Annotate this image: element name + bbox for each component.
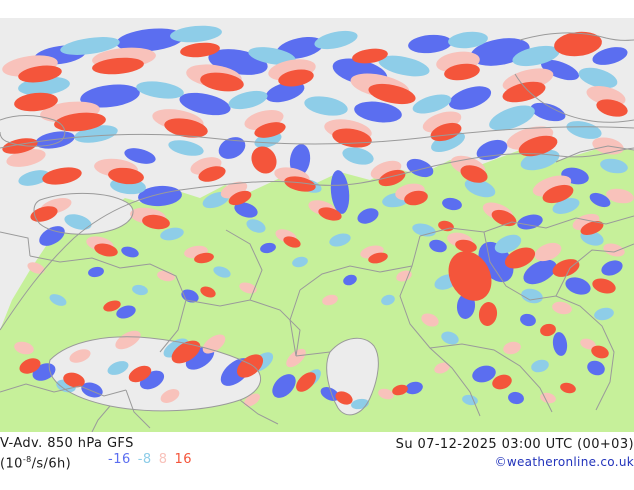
units-suffix: /s/6h): [32, 456, 72, 471]
product-title: V-Adv. 850 hPa GFS: [0, 436, 134, 452]
weather-map-page: V-Adv. 850 hPa GFS (10-8/s/6h) -16-8816 …: [0, 0, 634, 490]
units-exponent: -8: [23, 455, 32, 464]
product-title-row: V-Adv. 850 hPa GFS: [0, 436, 134, 452]
map-top-margin: [0, 0, 634, 18]
map-canvas[interactable]: [0, 0, 634, 433]
legend-value-pos16: 16: [174, 452, 192, 467]
product-units: (10-8/s/6h): [0, 452, 71, 472]
legend-value-pos8: 8: [159, 452, 168, 467]
units-prefix: (10: [0, 456, 23, 471]
forecast-timestamp: Su 07-12-2025 03:00 UTC (00+03): [396, 436, 634, 453]
legend-value-neg16: -16: [108, 452, 131, 467]
legend-value-neg8: -8: [138, 452, 152, 467]
map-svg: [0, 0, 634, 433]
credit-row[interactable]: ©weatheronline.co.uk: [495, 454, 634, 470]
color-legend: -16-8816: [108, 452, 199, 467]
timestamp-row: Su 07-12-2025 03:00 UTC (00+03): [396, 436, 634, 453]
footer-bar: V-Adv. 850 hPa GFS (10-8/s/6h) -16-8816 …: [0, 433, 634, 490]
product-units-row: (10-8/s/6h): [0, 452, 71, 472]
copyright-link[interactable]: ©weatheronline.co.uk: [495, 454, 634, 470]
